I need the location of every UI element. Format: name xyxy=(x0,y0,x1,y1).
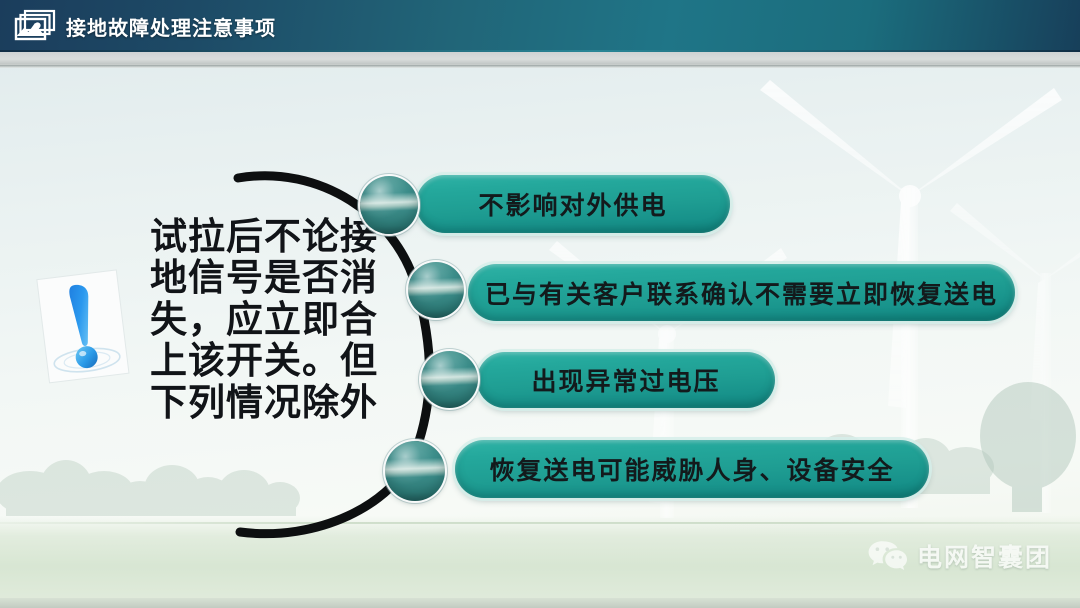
pill-item-3[interactable]: 出现异常过电压 xyxy=(477,352,775,408)
watermark-text: 电网智囊团 xyxy=(917,538,1052,574)
photos-stack-icon xyxy=(12,9,58,43)
sphere-node-1[interactable] xyxy=(360,176,418,234)
pill-item-1[interactable]: 不影响对外供电 xyxy=(416,175,730,233)
page-title: 接地故障处理注意事项 xyxy=(66,12,276,41)
slide-header: 接地故障处理注意事项 xyxy=(0,0,1080,52)
blue-exclamation-mark-icon xyxy=(36,268,136,386)
sphere-node-4[interactable] xyxy=(385,441,445,501)
pill-item-2-label: 已与有关客户联系确认不需要立即恢复送电 xyxy=(485,275,998,311)
sphere-node-2[interactable] xyxy=(408,262,464,318)
lead-statement: 试拉后不论接地信号是否消失，应立即合上该开关。但下列情况除外 xyxy=(140,216,388,423)
pill-item-3-label: 出现异常过电压 xyxy=(531,362,720,398)
bottom-shadow xyxy=(0,598,1080,608)
pill-item-1-label: 不影响对外供电 xyxy=(478,186,667,222)
pill-item-4[interactable]: 恢复送电可能威胁人身、设备安全 xyxy=(455,440,929,498)
sphere-node-3[interactable] xyxy=(421,351,478,408)
header-strip xyxy=(0,52,1080,68)
alert-exclamation-card xyxy=(36,268,136,386)
slide-canvas: 接地故障处理注意事项 xyxy=(0,0,1080,608)
pill-item-2[interactable]: 已与有关客户联系确认不需要立即恢复送电 xyxy=(468,264,1015,321)
wechat-icon xyxy=(867,539,907,573)
pill-item-4-label: 恢复送电可能威胁人身、设备安全 xyxy=(489,451,894,487)
tree-large-right xyxy=(980,382,1076,512)
watermark: 电网智囊团 xyxy=(867,538,1052,574)
